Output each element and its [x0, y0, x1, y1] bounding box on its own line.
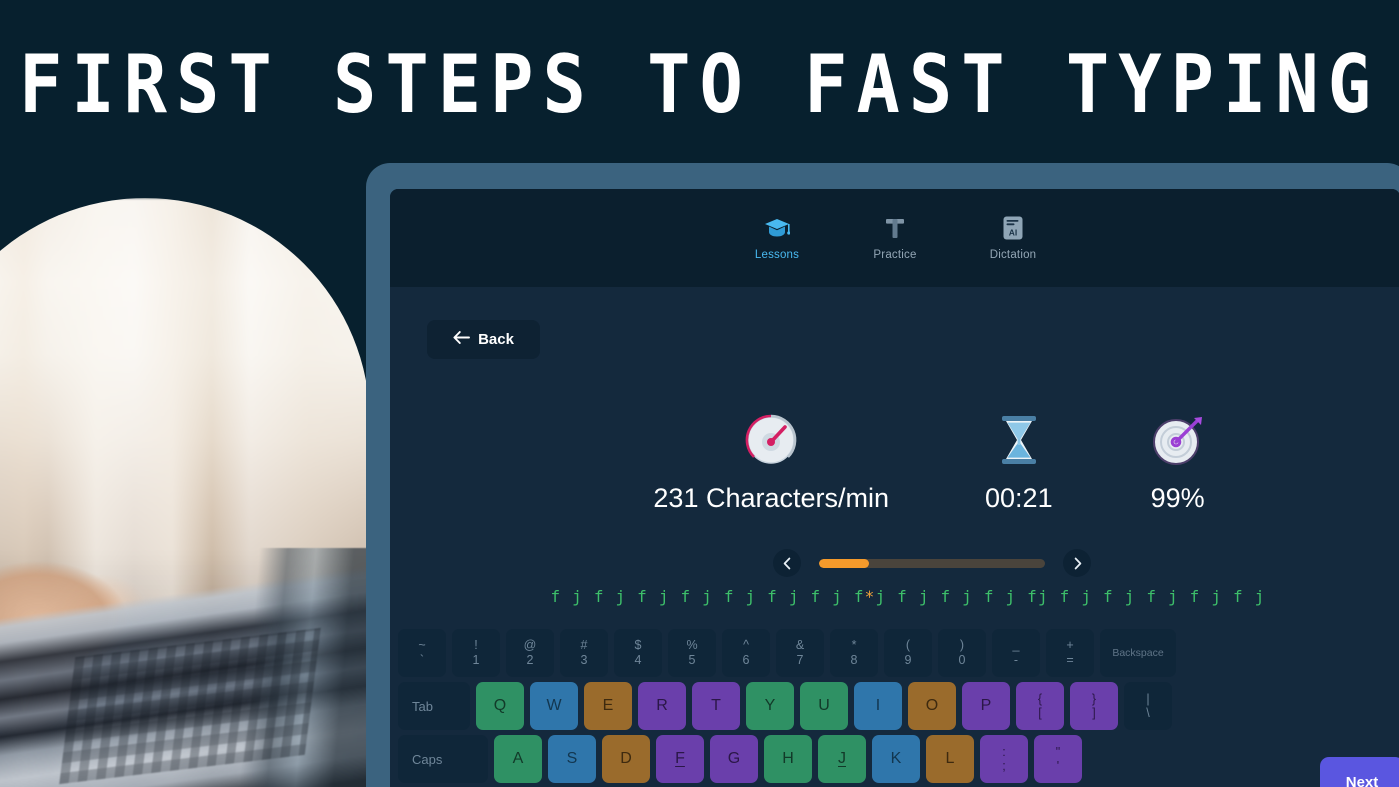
nav-item-practice[interactable]: Practice	[856, 215, 934, 261]
key-label: I	[876, 697, 880, 715]
key-shift-label: ^	[743, 639, 749, 652]
key-shift-label: "	[1056, 746, 1060, 759]
key-base-label: 2	[527, 654, 534, 667]
key-base-label: 0	[959, 654, 966, 667]
page-root: FIRST STEPS TO FAST TYPING	[0, 0, 1399, 787]
top-navigation: Lessons Practice	[390, 189, 1399, 287]
key-shift-label: _	[1013, 639, 1020, 652]
nav-label-dictation: Dictation	[990, 249, 1037, 261]
stat-accuracy-value: 99%	[1151, 483, 1205, 514]
dart-target-icon	[1149, 411, 1207, 469]
key-shift-label: )	[960, 639, 964, 652]
key-label: O	[926, 697, 938, 715]
key-g[interactable]: G	[710, 735, 758, 783]
arrow-left-icon	[453, 331, 470, 348]
key-label: Q	[494, 697, 506, 715]
progress-fill	[819, 559, 869, 568]
key-label: S	[567, 750, 578, 768]
stat-time: 00:21	[985, 411, 1053, 514]
key-[interactable]: {[	[1016, 682, 1064, 730]
stat-accuracy: 99%	[1149, 411, 1207, 514]
key-[interactable]: :;	[980, 735, 1028, 783]
key-i[interactable]: I	[854, 682, 902, 730]
key-shift-label: (	[906, 639, 910, 652]
key-[interactable]: "'	[1034, 735, 1082, 783]
progress-bar-row	[390, 549, 1399, 577]
stats-bar: 231 Characters/min 00:21	[390, 411, 1399, 514]
key-tab[interactable]: Tab	[398, 682, 470, 730]
stat-time-value: 00:21	[985, 483, 1053, 514]
key-shift-label: %	[686, 639, 697, 652]
key-j[interactable]: J	[818, 735, 866, 783]
key-base-label: \	[1146, 707, 1149, 720]
key-d[interactable]: D	[602, 735, 650, 783]
key-backspace[interactable]: Backspace	[1100, 629, 1176, 677]
key-r[interactable]: R	[638, 682, 686, 730]
key-k[interactable]: K	[872, 735, 920, 783]
key-7[interactable]: &7	[776, 629, 824, 677]
key-5[interactable]: %5	[668, 629, 716, 677]
key-base-label: 9	[905, 654, 912, 667]
key-shift-label: !	[474, 639, 477, 652]
key-base-label: =	[1066, 654, 1073, 667]
qwerty-row: TabQWERTYUIOP{[}]|\	[398, 682, 1392, 730]
laptop-screen: Lessons Practice	[390, 189, 1399, 787]
key-f[interactable]: F	[656, 735, 704, 783]
key-0[interactable]: )0	[938, 629, 986, 677]
laptop-frame: Lessons Practice	[366, 163, 1399, 787]
key-base-label: [	[1038, 707, 1041, 720]
key-w[interactable]: W	[530, 682, 578, 730]
nav-item-dictation[interactable]: AI Dictation	[974, 215, 1052, 261]
key-shift-label: *	[852, 639, 857, 652]
key-shift-label: |	[1146, 693, 1149, 706]
typing-exercise-text: f j f j f j f j f j f j f j f*j f j f j …	[390, 587, 1399, 606]
key-s[interactable]: S	[548, 735, 596, 783]
key-[interactable]: +=	[1046, 629, 1094, 677]
nav-label-lessons: Lessons	[755, 249, 799, 261]
key-shift-label: }	[1092, 693, 1096, 706]
progress-track[interactable]	[819, 559, 1045, 568]
key-label: R	[656, 697, 668, 715]
key-label: W	[546, 697, 561, 715]
graduation-cap-icon	[764, 215, 790, 241]
key-shift-label: +	[1066, 639, 1073, 652]
key-label: J	[838, 750, 846, 768]
key-y[interactable]: Y	[746, 682, 794, 730]
key-base-label: 4	[635, 654, 642, 667]
key-2[interactable]: @2	[506, 629, 554, 677]
key-label: U	[818, 697, 830, 715]
chevron-left-icon	[781, 557, 794, 570]
hero-photo	[0, 198, 370, 787]
key-[interactable]: ~`	[398, 629, 446, 677]
svg-text:AI: AI	[1009, 228, 1018, 238]
key-label: A	[513, 750, 524, 768]
next-lesson-button[interactable]	[1063, 549, 1091, 577]
key-shift-label: #	[581, 639, 588, 652]
nav-item-lessons[interactable]: Lessons	[738, 215, 816, 261]
key-e[interactable]: E	[584, 682, 632, 730]
virtual-keyboard[interactable]: ~`!1@2#3$4%5^6&7*8(9)0_-+=BackspaceTabQW…	[390, 629, 1399, 787]
key-6[interactable]: ^6	[722, 629, 770, 677]
key-shift-label: ~	[418, 639, 425, 652]
back-button-label: Back	[478, 331, 514, 348]
next-button[interactable]: Next	[1320, 757, 1399, 787]
key-base-label: 5	[689, 654, 696, 667]
stat-speed-value: 231 Characters/min	[653, 483, 889, 514]
key-label: G	[728, 750, 740, 768]
key-l[interactable]: L	[926, 735, 974, 783]
key-q[interactable]: Q	[476, 682, 524, 730]
stat-speed: 231 Characters/min	[653, 411, 889, 514]
key-base-label: -	[1014, 654, 1018, 667]
key-base-label: 1	[473, 654, 480, 667]
key-base-label: '	[1057, 760, 1059, 773]
page-title: FIRST STEPS TO FAST TYPING	[0, 38, 1399, 130]
ai-document-icon: AI	[1002, 215, 1024, 241]
typing-cursor: *	[865, 587, 876, 606]
key-base-label: ;	[1002, 760, 1005, 773]
key-p[interactable]: P	[962, 682, 1010, 730]
key-label: T	[711, 697, 721, 715]
back-button[interactable]: Back	[427, 320, 540, 359]
key-base-label: 7	[797, 654, 804, 667]
key-1[interactable]: !1	[452, 629, 500, 677]
key-label: P	[981, 697, 992, 715]
key-u[interactable]: U	[800, 682, 848, 730]
key-[interactable]: }]	[1070, 682, 1118, 730]
key-8[interactable]: *8	[830, 629, 878, 677]
key-base-label: 6	[743, 654, 750, 667]
key-base-label: ]	[1092, 707, 1095, 720]
key-label: E	[603, 697, 614, 715]
key-shift-label: &	[796, 639, 804, 652]
speedometer-icon	[742, 411, 800, 469]
key-shift-label: {	[1038, 693, 1042, 706]
key-9[interactable]: (9	[884, 629, 932, 677]
text-tool-icon	[883, 215, 907, 241]
key-h[interactable]: H	[764, 735, 812, 783]
key-[interactable]: |\	[1124, 682, 1172, 730]
key-base-label: 3	[581, 654, 588, 667]
key-label: F	[675, 750, 685, 768]
key-base-label: `	[420, 654, 424, 667]
chevron-right-icon	[1071, 557, 1084, 570]
typed-text-before-cursor: f j f j f j f j f j f j f j f	[551, 587, 865, 606]
key-shift-label: $	[635, 639, 642, 652]
key-t[interactable]: T	[692, 682, 740, 730]
key-3[interactable]: #3	[560, 629, 608, 677]
nav-label-practice: Practice	[873, 249, 916, 261]
home-row: CapsASDFGHJKL:;"'	[398, 735, 1392, 783]
typed-text-after-cursor: j f j f j f j fj f j f j f j f j f j	[876, 587, 1266, 606]
key-label: K	[891, 750, 902, 768]
key-[interactable]: _-	[992, 629, 1040, 677]
key-label: D	[620, 750, 632, 768]
key-a[interactable]: A	[494, 735, 542, 783]
key-label: Y	[765, 697, 776, 715]
key-4[interactable]: $4	[614, 629, 662, 677]
key-base-label: 8	[851, 654, 858, 667]
key-shift-label: :	[1002, 746, 1005, 759]
prev-lesson-button[interactable]	[773, 549, 801, 577]
key-shift-label: @	[524, 639, 537, 652]
hourglass-icon	[990, 411, 1048, 469]
key-label: L	[946, 750, 955, 768]
key-o[interactable]: O	[908, 682, 956, 730]
key-label: H	[782, 750, 794, 768]
number-row: ~`!1@2#3$4%5^6&7*8(9)0_-+=Backspace	[398, 629, 1392, 677]
key-caps[interactable]: Caps	[398, 735, 488, 783]
